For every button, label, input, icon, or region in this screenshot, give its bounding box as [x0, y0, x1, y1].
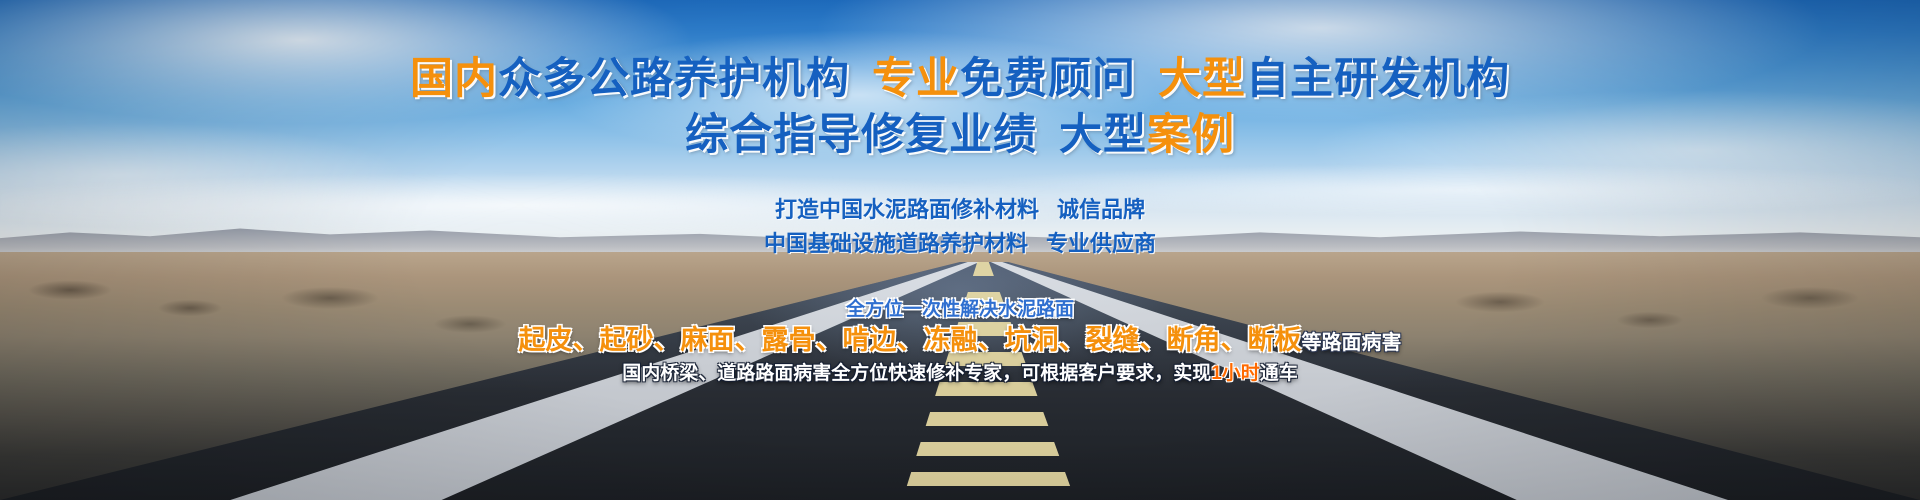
footer-intro-line: 全方位一次性解决水泥路面 [0, 294, 1920, 321]
subheadline-seg-material: 打造中国水泥路面修补材料 [775, 197, 1039, 222]
headline-seg-large: 大型 [1059, 111, 1147, 159]
headline-seg-professional: 专业 [872, 55, 960, 103]
headline-line-1: 国内众多公路养护机构专业免费顾问大型自主研发机构 [0, 44, 1920, 106]
subheadline-seg-supplier: 专业供应商 [1046, 231, 1156, 256]
subheadline-line-2: 中国基础设施道路养护材料专业供应商 [0, 226, 1920, 258]
headline-seg-large-scale: 大型 [1158, 55, 1246, 103]
footer-claim-part-2: 通车 [1260, 363, 1298, 384]
footer-claim-part-1: 国内桥梁、道路路面病害全方位快速修补专家，可根据客户要求，实现 [622, 363, 1211, 384]
headline-seg-guidance: 综合指导修复业绩 [685, 111, 1037, 159]
subheadline-line-1: 打造中国水泥路面修补材料诚信品牌 [0, 192, 1920, 224]
banner-content: 国内众多公路养护机构专业免费顾问大型自主研发机构 综合指导修复业绩大型案例 打造… [0, 0, 1920, 500]
footer-defects-line: 起皮、起砂、麻面、露骨、啃边、冻融、坑洞、裂缝、断角、断板等路面病害 [0, 318, 1920, 357]
headline-seg-domestic: 国内 [410, 55, 498, 103]
promo-banner: 国内众多公路养护机构专业免费顾问大型自主研发机构 综合指导修复业绩大型案例 打造… [0, 0, 1920, 500]
footer-claim-line: 国内桥梁、道路路面病害全方位快速修补专家，可根据客户要求，实现1小时通车 [0, 358, 1920, 385]
footer-claim-highlight: 1小时 [1211, 363, 1260, 384]
headline-seg-cases: 案例 [1147, 111, 1235, 159]
footer-defect-tail: 等路面病害 [1302, 332, 1402, 354]
footer-defect-list: 起皮、起砂、麻面、露骨、啃边、冻融、坑洞、裂缝、断角、断板 [519, 325, 1302, 355]
subheadline-seg-brand: 诚信品牌 [1057, 197, 1145, 222]
headline-line-2: 综合指导修复业绩大型案例 [0, 100, 1920, 162]
headline-seg-agencies: 众多公路养护机构 [498, 55, 850, 103]
headline-seg-free-consult: 免费顾问 [960, 55, 1136, 103]
headline-seg-rnd: 自主研发机构 [1246, 55, 1510, 103]
footer-intro-text: 全方位一次性解决水泥路面 [846, 299, 1074, 320]
subheadline-seg-infra: 中国基础设施道路养护材料 [764, 231, 1028, 256]
